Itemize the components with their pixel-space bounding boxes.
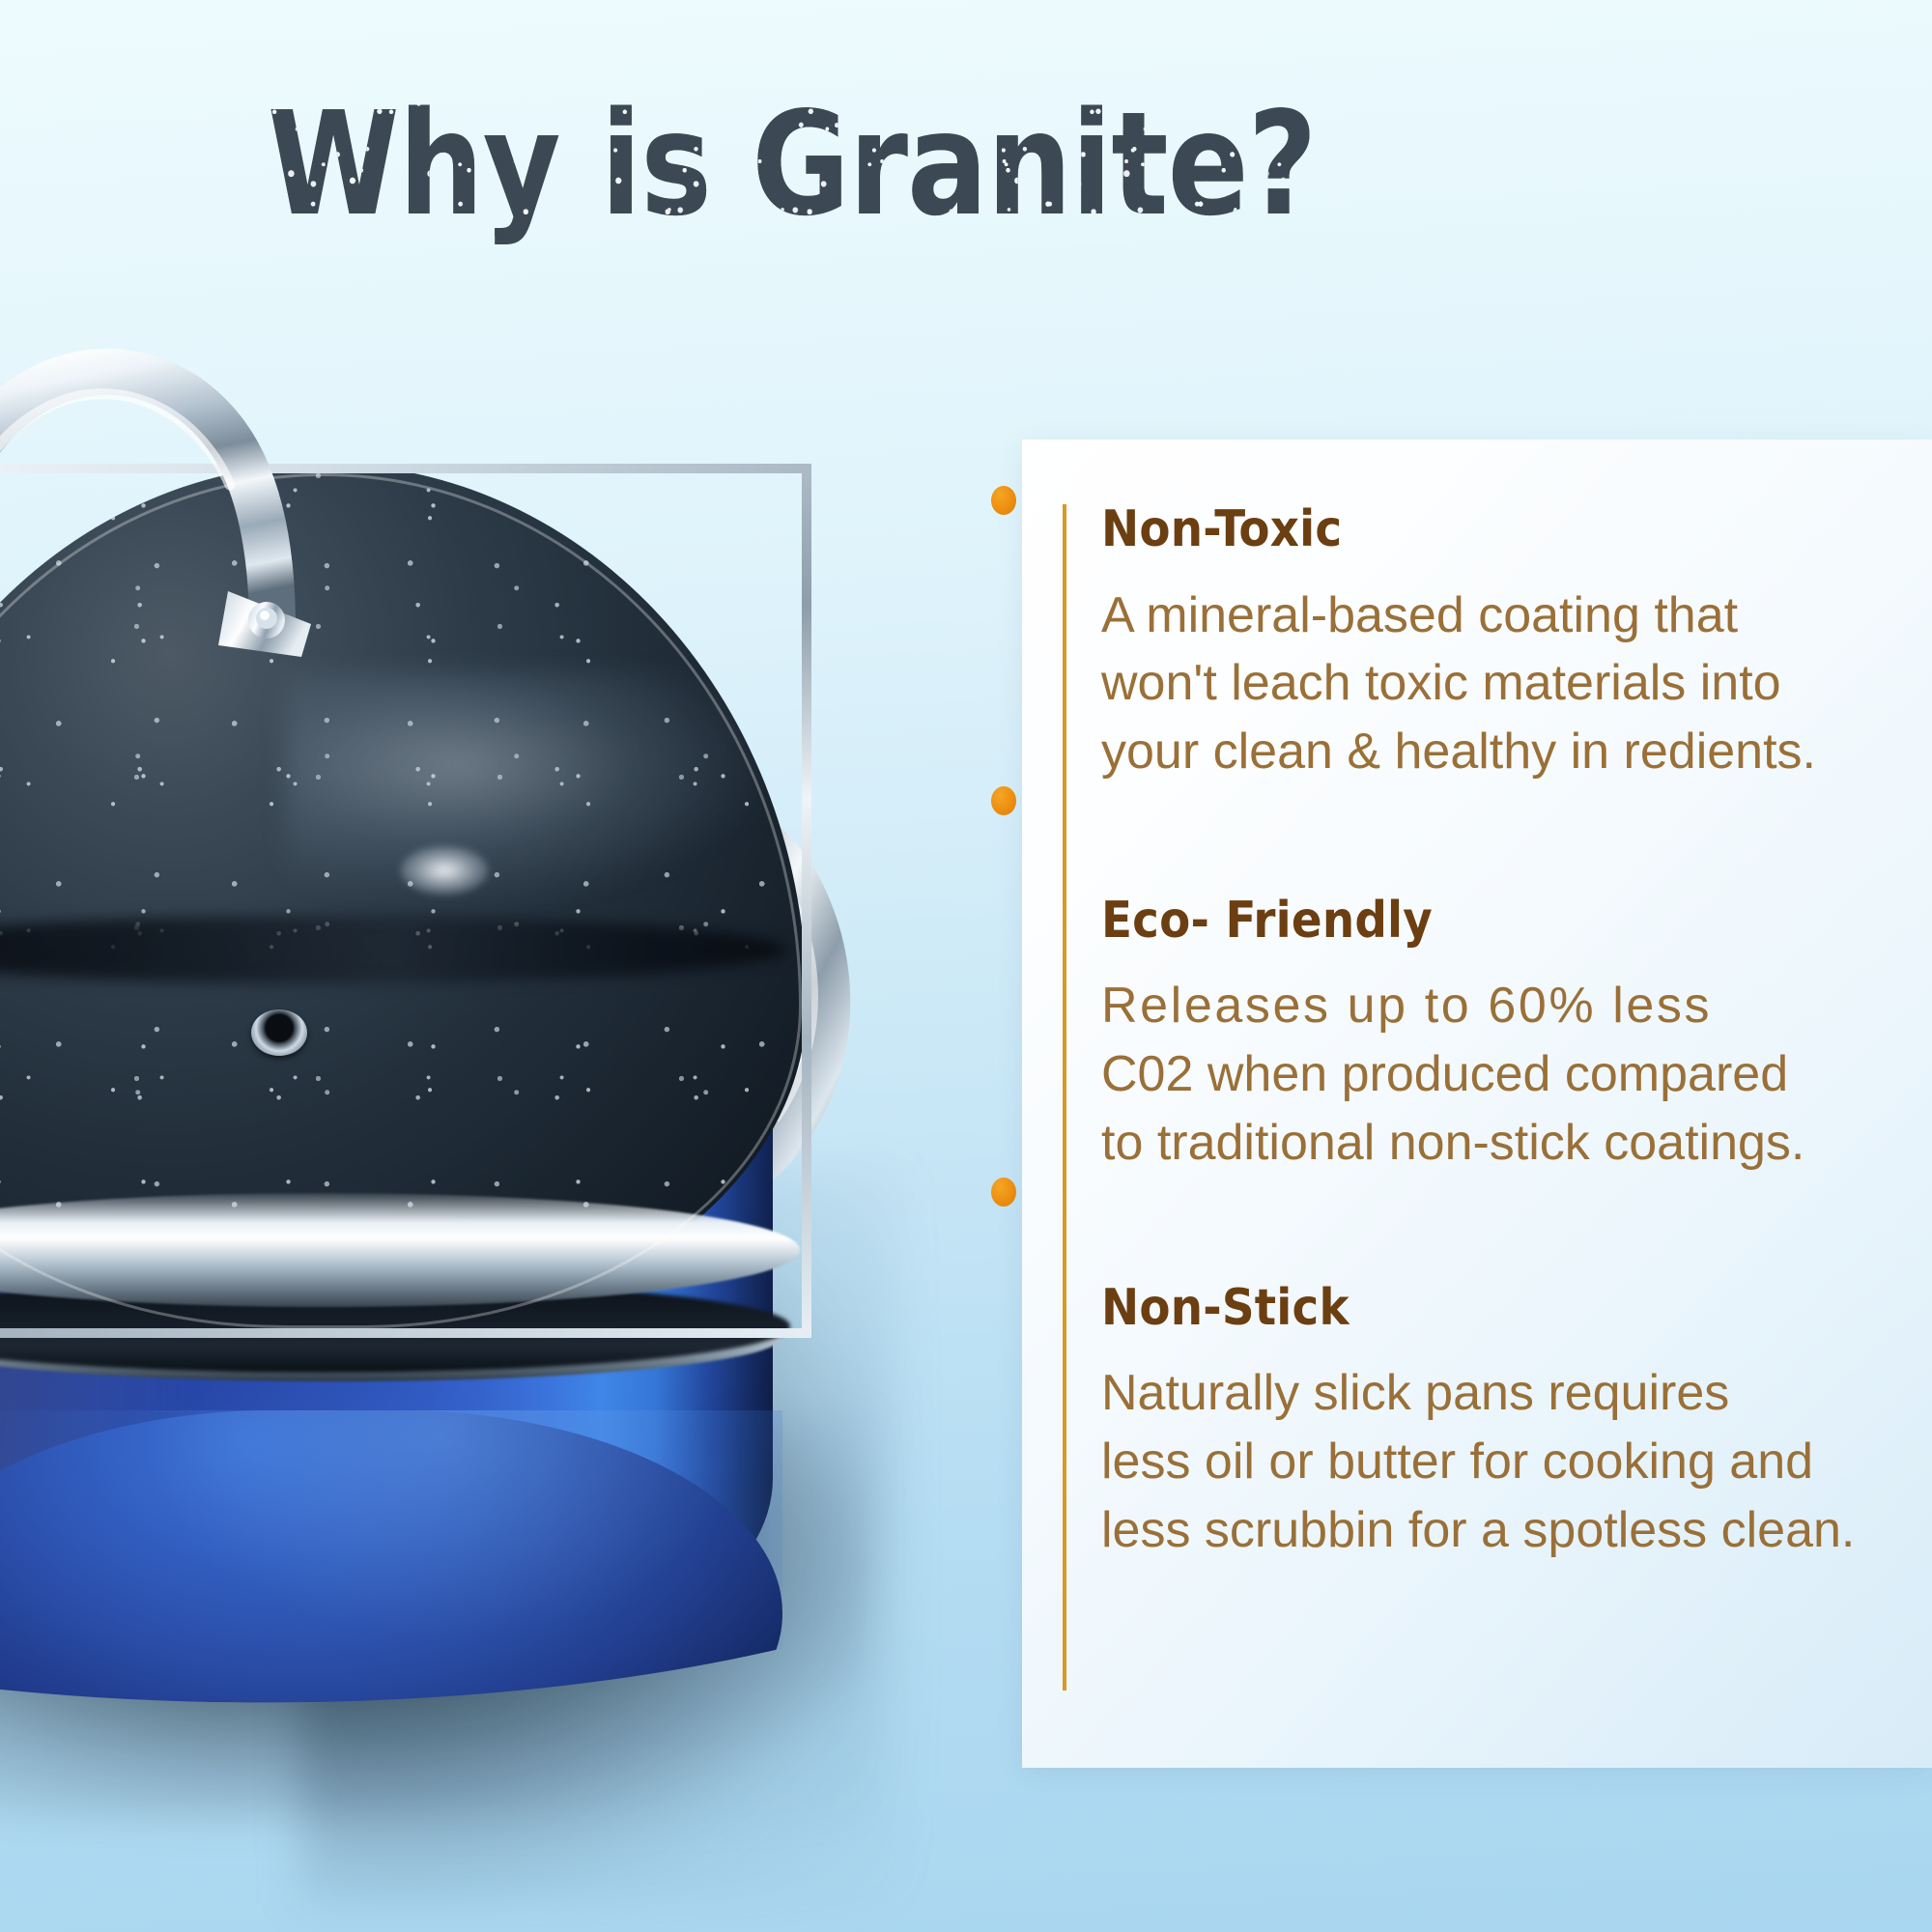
lid-specular-highlight (401, 846, 488, 895)
feature-item-non-toxic: Non-Toxic A mineral-based coating that w… (1022, 486, 1878, 786)
feature-item-non-stick: Non-Stick Naturally slick pans requires … (1022, 1178, 1878, 1565)
feature-description-line: to traditional non-stick coatings. (1101, 1109, 1878, 1178)
feature-title: Non-Toxic (1101, 503, 1878, 556)
bullet-dot-icon (991, 486, 1016, 515)
feature-description: Releases up to 60% less C02 when produce… (1101, 972, 1878, 1177)
lid-reflection-glow (285, 672, 768, 904)
steam-vent-icon (251, 1009, 307, 1056)
feature-description-line: less scrubbin for a spotless clean. (1101, 1496, 1878, 1565)
product-photo-cookware-pot (0, 319, 889, 1884)
lid-loop-handle-icon (0, 338, 348, 657)
feature-description: A mineral-based coating that won't leach… (1101, 582, 1878, 786)
feature-description-line: your clean & healthy in redients. (1101, 718, 1878, 786)
feature-item-eco-friendly: Eco- Friendly Releases up to 60% less C0… (1022, 786, 1878, 1178)
feature-title: Non-Stick (1101, 1282, 1878, 1335)
feature-description-line: won't leach toxic materials into (1101, 649, 1878, 718)
feature-connector-line (1063, 504, 1066, 1690)
feature-description-line: Naturally slick pans requires (1101, 1359, 1878, 1428)
bullet-dot-icon (991, 1178, 1016, 1207)
page-title: Why is Granite? (268, 93, 1317, 236)
feature-description-line: Releases up to 60% less (1101, 972, 1878, 1040)
page-title-container: Why is Granite? (0, 93, 1584, 236)
feature-description-line: less oil or butter for cooking and (1101, 1428, 1878, 1496)
features-panel: Non-Toxic A mineral-based coating that w… (1022, 440, 1932, 1768)
bullet-dot-icon (991, 786, 1016, 815)
feature-description-line: C02 when produced compared (1101, 1040, 1878, 1109)
feature-title: Eco- Friendly (1101, 895, 1878, 948)
feature-description-line: A mineral-based coating that (1101, 582, 1878, 650)
feature-description: Naturally slick pans requires less oil o… (1101, 1359, 1878, 1564)
